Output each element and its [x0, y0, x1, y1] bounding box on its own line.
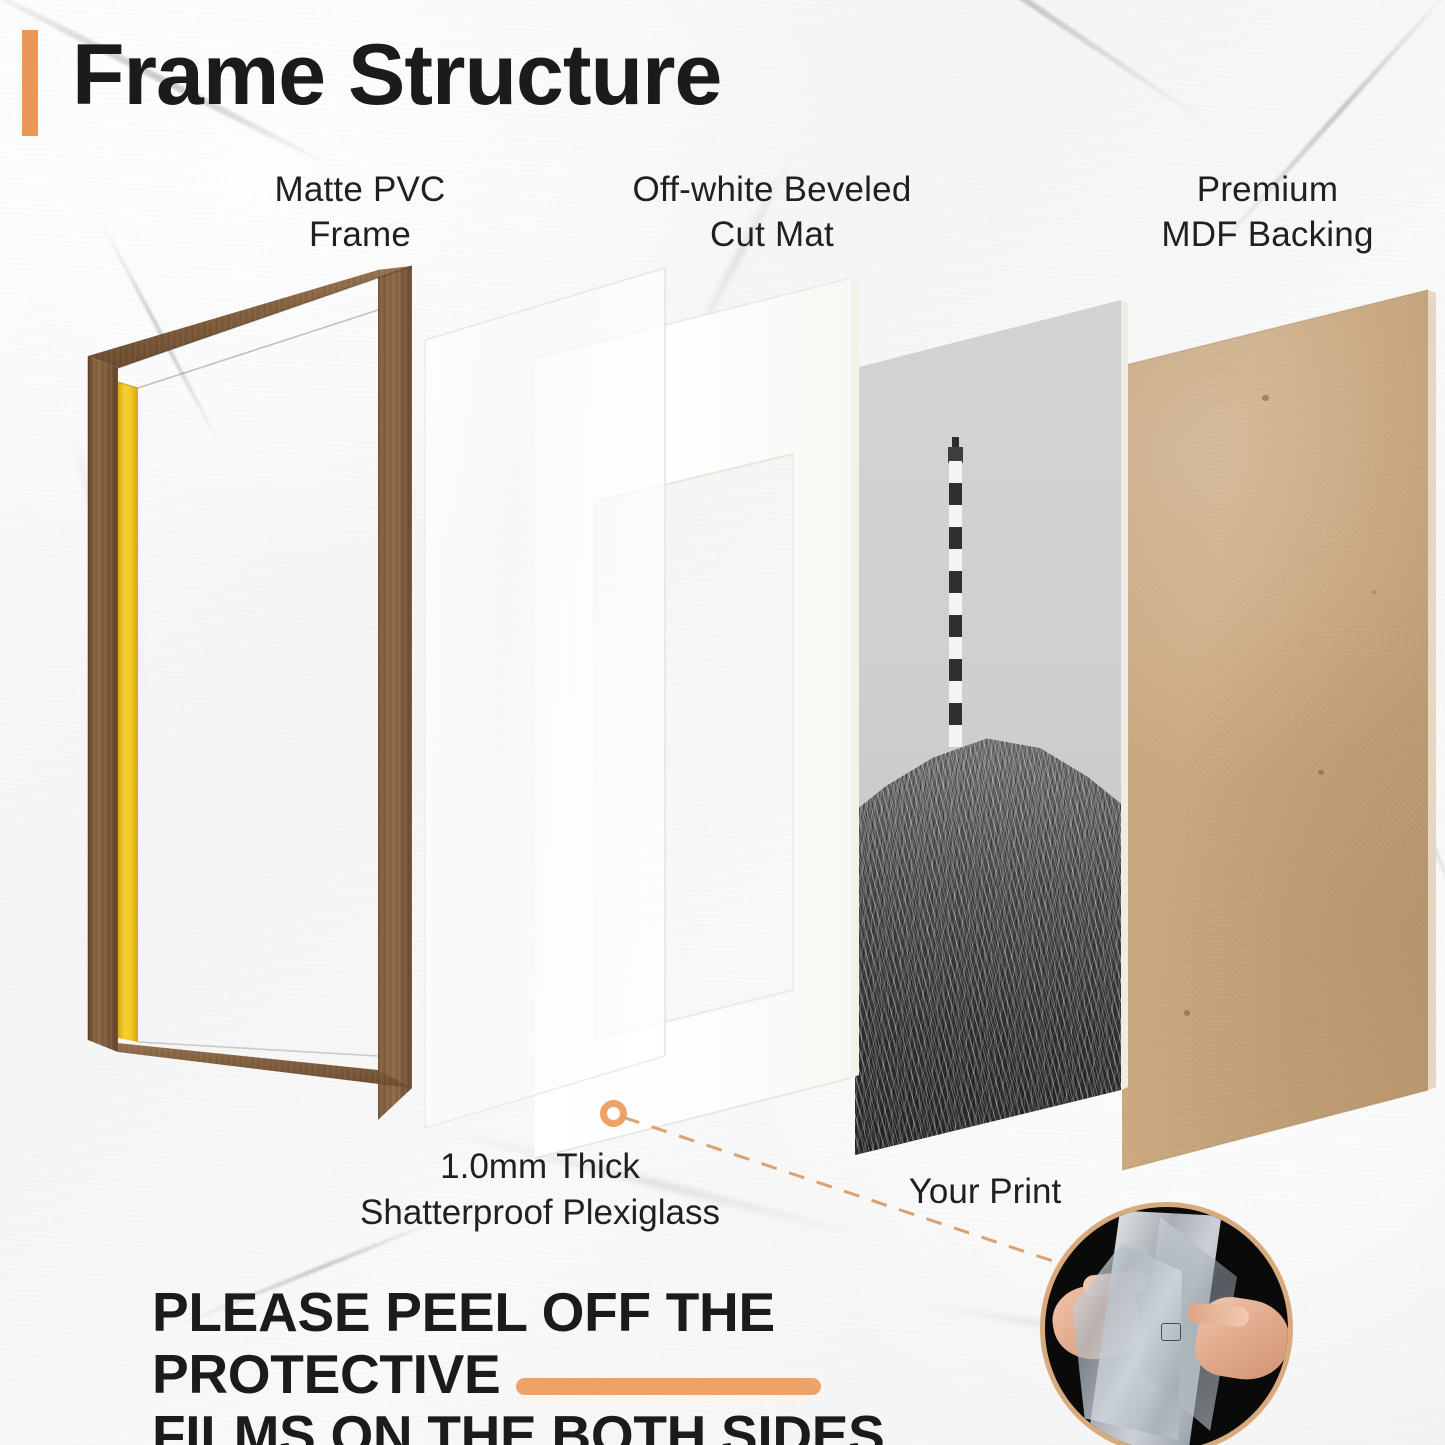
- mdf-edge: [1428, 290, 1436, 1090]
- lighthouse-icon: [946, 437, 965, 747]
- print-edge: [1121, 300, 1128, 1090]
- page-title: Frame Structure: [72, 26, 721, 125]
- title-accent-bar: [22, 30, 38, 136]
- label-pvc-frame: Matte PVC Frame: [140, 168, 580, 258]
- mdf-speck: [1184, 1010, 1190, 1016]
- layer-mdf-backing: [1122, 290, 1442, 1170]
- layer-print: [855, 300, 1130, 1155]
- label-mdf-backing: Premium MDF Backing: [1095, 168, 1440, 258]
- layer-plexiglass: [425, 268, 675, 1128]
- label-your-print: Your Print: [860, 1172, 1110, 1212]
- frame-gold-inner-edge: [118, 382, 138, 1042]
- protective-film-front: [1068, 1239, 1194, 1445]
- plexiglass-sheet: [425, 268, 665, 1128]
- label-cut-mat: Off-white Beveled Cut Mat: [562, 168, 982, 258]
- mdf-speck: [1262, 395, 1269, 401]
- layer-pvc-frame: [60, 250, 460, 1150]
- mat-edge: [851, 278, 859, 1078]
- callout-dot-marker: [600, 1100, 627, 1127]
- film-logo-badge: [1161, 1323, 1181, 1341]
- peel-film-photo-inset: [1040, 1202, 1293, 1445]
- infographic-canvas: Frame Structure Matte PVC Frame Off-whit…: [0, 0, 1445, 1445]
- mdf-speck: [1372, 590, 1376, 594]
- peel-film-notice: PLEASE PEEL OFF THE PROTECTIVE FILMS ON …: [152, 1282, 1032, 1445]
- mdf-speck: [1318, 770, 1324, 775]
